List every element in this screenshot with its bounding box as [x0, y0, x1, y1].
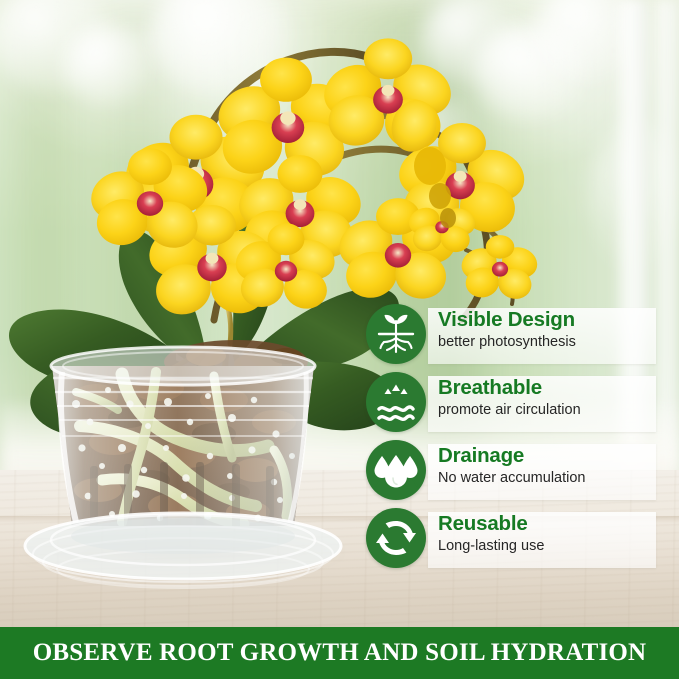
feature-item-visible-design[interactable]: Visible Design better photosynthesis [366, 302, 666, 370]
orchid-bud [414, 147, 446, 185]
feature-item-breathable[interactable]: Breathable promote air circulation [366, 370, 666, 438]
feature-title: Visible Design [438, 307, 668, 332]
feature-subtitle: better photosynthesis [438, 332, 668, 352]
feature-list: Visible Design better photosynthesis [366, 302, 666, 574]
feature-title: Reusable [438, 511, 668, 536]
feature-text: Drainage No water accumulation [438, 443, 668, 488]
pot-saucer [25, 513, 341, 588]
airflow-waves-icon [366, 372, 426, 432]
feature-title: Breathable [438, 375, 668, 400]
pot-body [52, 366, 314, 526]
feature-subtitle: No water accumulation [438, 468, 668, 488]
bottom-banner: OBSERVE ROOT GROWTH AND SOIL HYDRATION [0, 627, 679, 679]
feature-text: Reusable Long-lasting use [438, 511, 668, 556]
feature-item-reusable[interactable]: Reusable Long-lasting use [366, 506, 666, 574]
feature-subtitle: Long-lasting use [438, 536, 668, 556]
sprout-roots-icon [366, 304, 426, 364]
feature-item-drainage[interactable]: Drainage No water accumulation [366, 438, 666, 506]
recycle-arrows-icon [366, 508, 426, 568]
clear-slotted-pot [18, 330, 348, 595]
feature-text: Breathable promote air circulation [438, 375, 668, 420]
banner-headline: OBSERVE ROOT GROWTH AND SOIL HYDRATION [33, 639, 647, 667]
orchid-bud [429, 183, 451, 209]
orchid-bud [440, 208, 456, 228]
feature-title: Drainage [438, 443, 668, 468]
feature-text: Visible Design better photosynthesis [438, 307, 668, 352]
feature-subtitle: promote air circulation [438, 400, 668, 420]
product-marketing-image: Visible Design better photosynthesis [0, 0, 679, 679]
water-droplets-icon [366, 440, 426, 500]
